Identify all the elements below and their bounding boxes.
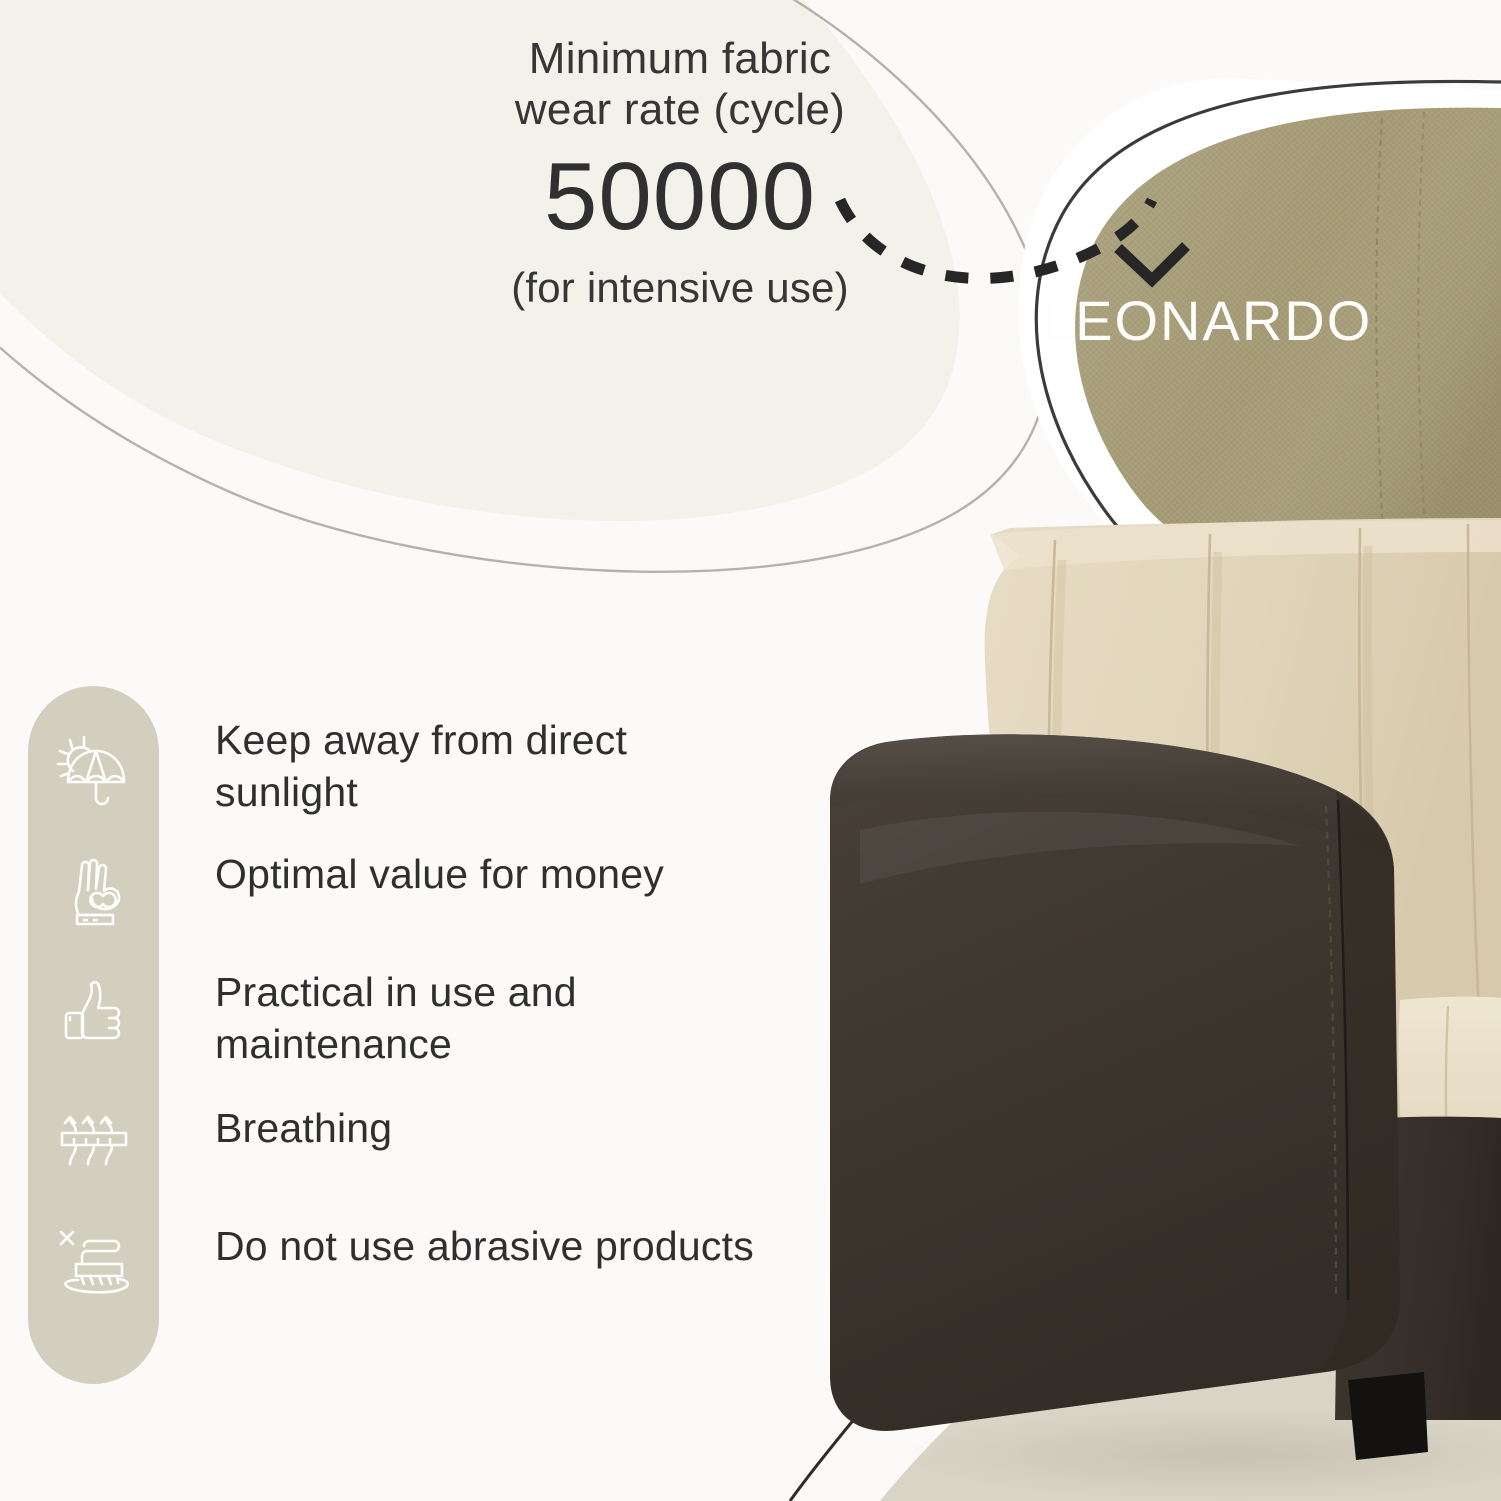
feature-label-value: Optimal value for money [215, 848, 755, 966]
wear-rate-note: (for intensive use) [400, 263, 960, 313]
feature-label-sunlight: Keep away from direct sunlight [215, 714, 755, 848]
feature-text-list: Keep away from direct sunlight Optimal v… [215, 714, 755, 1340]
sofa-armrest-top-roll [830, 734, 1392, 860]
swatch-stitch-right [1418, 112, 1430, 584]
arrowhead-down-icon [1118, 246, 1186, 280]
umbrella-sun-icon [48, 724, 140, 816]
no-abrasive-brush-icon [48, 1212, 140, 1304]
sofa-backrest-stitching [1048, 524, 1482, 1080]
wear-rate-line-2: wear rate (cycle) [400, 85, 960, 136]
sofa-armrest [830, 734, 1400, 1431]
product-info-poster: Minimum fabric wear rate (cycle) 50000 (… [0, 0, 1501, 1501]
wear-rate-line-1: Minimum fabric [400, 34, 960, 85]
swatch-stitch-left [1376, 118, 1388, 586]
feature-label-abrasive: Do not use abrasive products [215, 1220, 755, 1340]
sofa-armrest-stitch [1326, 806, 1336, 1296]
sofa-armrest-sheen [860, 812, 1300, 884]
sofa-backrest [985, 520, 1501, 1120]
wear-rate-callout: Minimum fabric wear rate (cycle) 50000 (… [400, 34, 960, 313]
sofa-backrest-channel-shadow [1056, 546, 1378, 1060]
product-model-label: LEONARDO [1042, 288, 1372, 353]
sofa-backrest-highlight [990, 518, 1501, 570]
sofa-leg [1348, 1372, 1428, 1460]
sofa-seat-cushion [1399, 997, 1501, 1240]
feature-label-breathing: Breathing [215, 1102, 755, 1220]
outline-curve-bottom [790, 1230, 1090, 1501]
sofa-base-body [1335, 1117, 1501, 1420]
feature-icon-list [28, 686, 159, 1384]
sofa-armrest-side-facet [1318, 792, 1400, 1372]
thumbs-up-icon [48, 968, 140, 1060]
floor-shadow [900, 1409, 1501, 1501]
airflow-icon [48, 1090, 140, 1182]
sofa-armrest-seam [1338, 800, 1348, 1300]
ok-hand-icon [48, 846, 140, 938]
sofa-seat-stitch [1446, 1006, 1452, 1238]
feature-label-practical: Practical in use and maintenance [215, 966, 755, 1102]
beige-blob-bottom [880, 1180, 1501, 1501]
wear-rate-value: 50000 [400, 143, 960, 251]
